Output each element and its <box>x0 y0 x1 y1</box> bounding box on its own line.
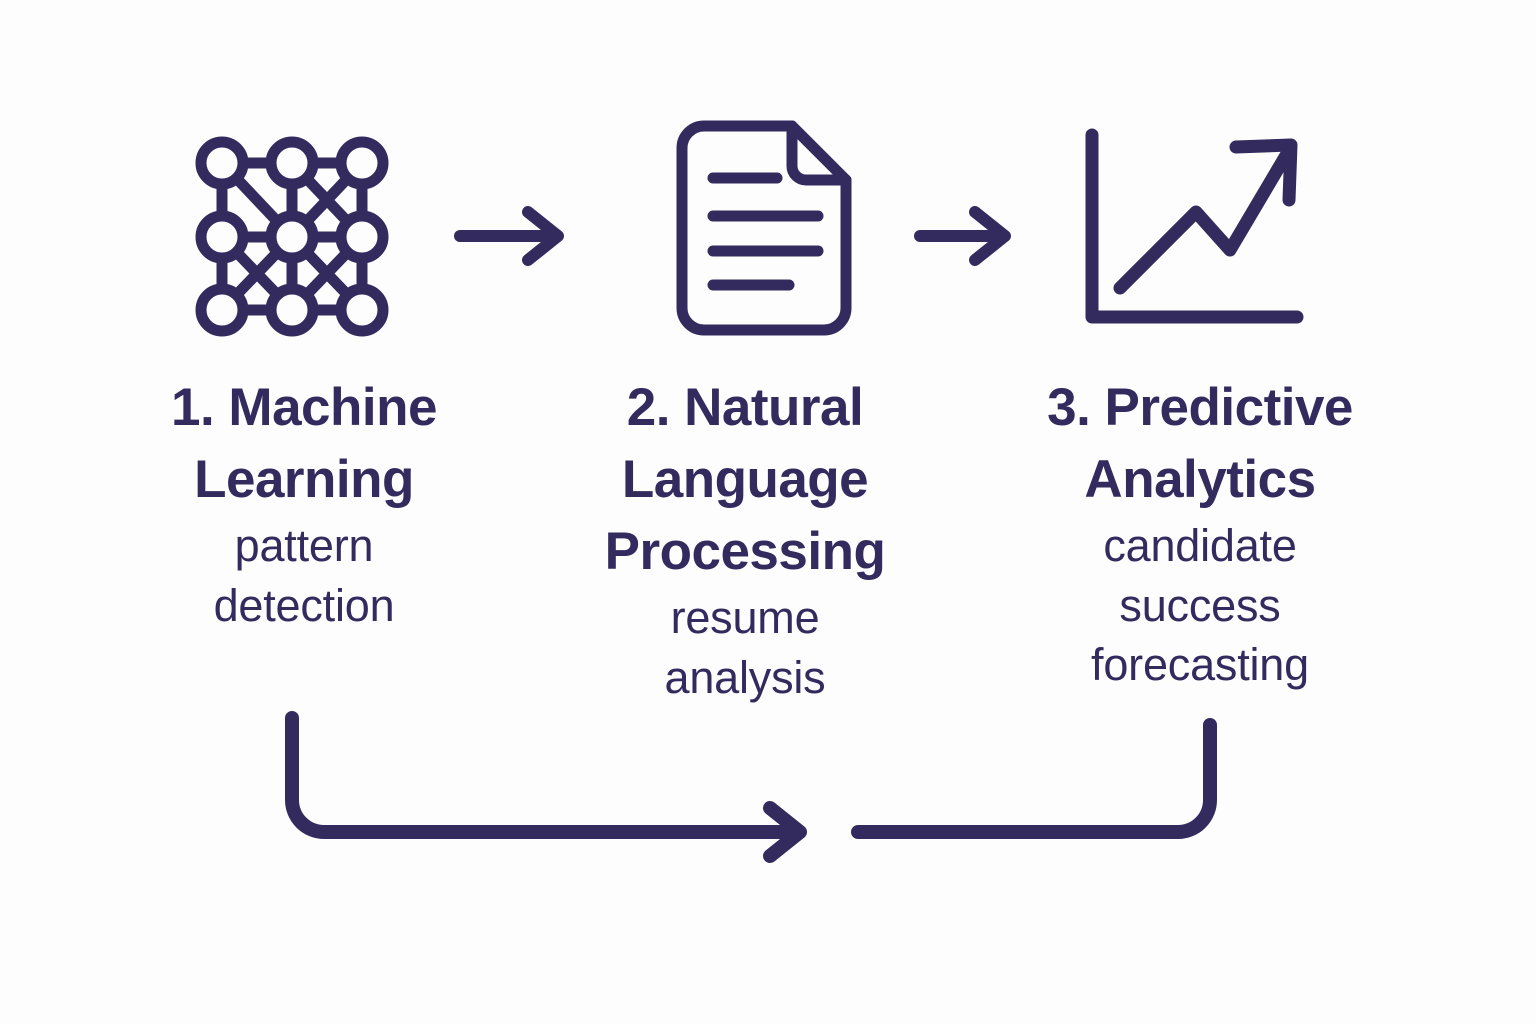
diagram-canvas: 1. Machine Learning pattern detection 2.… <box>0 0 1536 1024</box>
feedback-loop-connector <box>292 718 1210 856</box>
step-2-title: 2. Natural Language Processing <box>540 372 950 588</box>
step-3-title: 3. Predictive Analytics <box>985 372 1415 516</box>
arrow-step1-to-step2 <box>460 212 558 260</box>
step-3-subtitle: candidate success forecasting <box>985 516 1415 694</box>
arrow-step2-to-step3 <box>920 212 1005 260</box>
step-3-text-block: 3. Predictive Analytics candidate succes… <box>985 372 1415 694</box>
document-icon <box>682 126 846 330</box>
growth-chart-icon <box>1092 135 1297 317</box>
step-2-text-block: 2. Natural Language Processing resume an… <box>540 372 950 707</box>
step-1-text-block: 1. Machine Learning pattern detection <box>104 372 504 635</box>
neural-network-icon <box>201 142 383 331</box>
step-1-title: 1. Machine Learning <box>104 372 504 516</box>
step-2-subtitle: resume analysis <box>540 588 950 707</box>
step-1-subtitle: pattern detection <box>104 516 504 635</box>
